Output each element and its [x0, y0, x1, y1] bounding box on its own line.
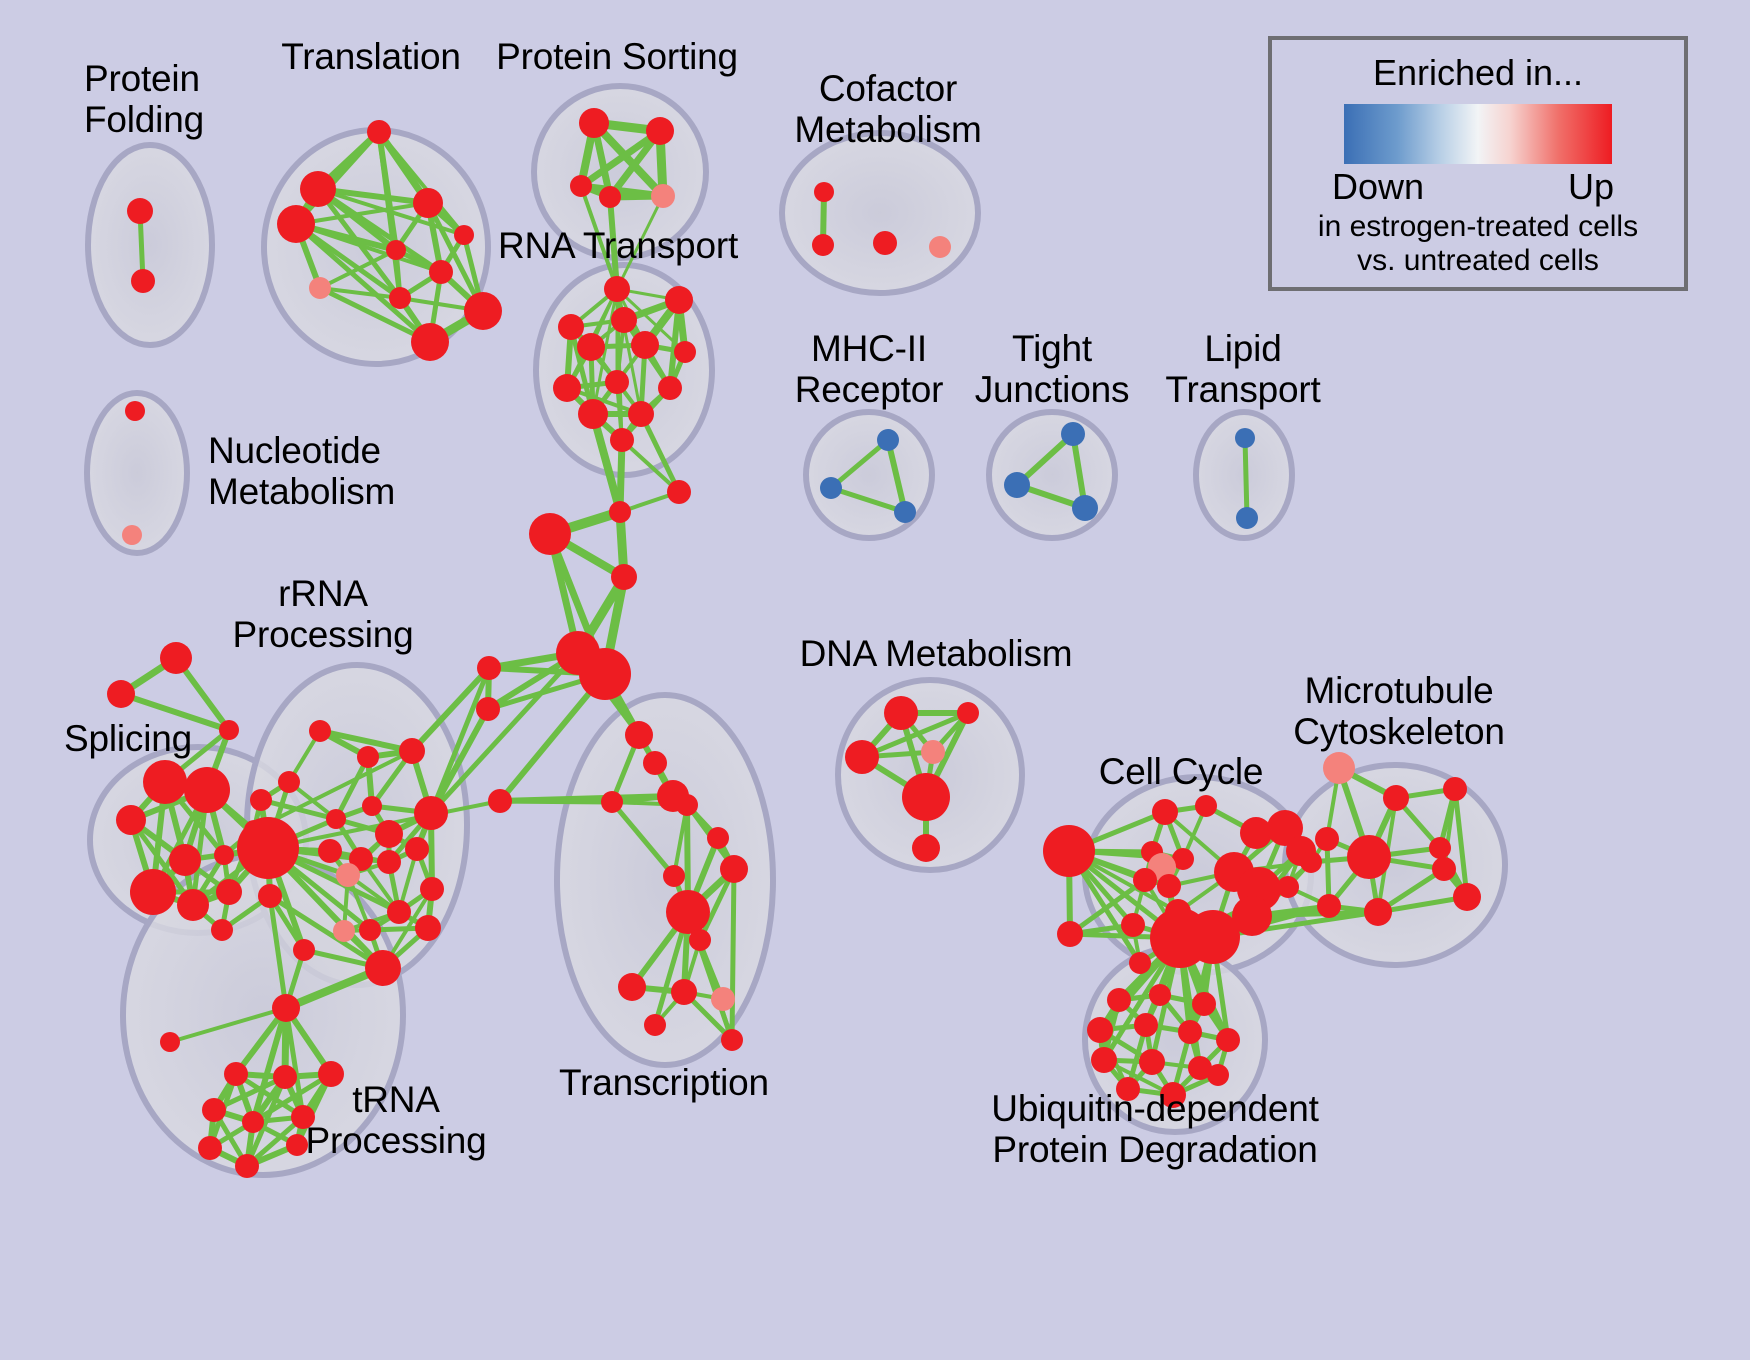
network-node[interactable]	[413, 188, 443, 218]
network-node[interactable]	[605, 370, 629, 394]
network-node[interactable]	[579, 648, 631, 700]
cluster-label-line: Cofactor	[794, 68, 981, 109]
network-node[interactable]	[1091, 1047, 1117, 1073]
legend-up-label: Up	[1568, 166, 1614, 208]
network-node[interactable]	[877, 429, 899, 451]
network-node[interactable]	[812, 234, 834, 256]
cluster-label-tight-junctions: TightJunctions	[975, 328, 1130, 411]
network-node[interactable]	[1240, 817, 1272, 849]
cluster-label-line: Metabolism	[208, 471, 395, 512]
network-node[interactable]	[1277, 876, 1299, 898]
network-node[interactable]	[1139, 1049, 1165, 1075]
network-node[interactable]	[216, 879, 242, 905]
network-node[interactable]	[1432, 857, 1456, 881]
network-node[interactable]	[845, 740, 879, 774]
network-node[interactable]	[365, 950, 401, 986]
network-node[interactable]	[1043, 825, 1095, 877]
network-node[interactable]	[488, 789, 512, 813]
network-node[interactable]	[711, 987, 735, 1011]
cluster-label-line: Junctions	[975, 369, 1130, 410]
cluster-label-line: Nucleotide	[208, 430, 395, 471]
network-node[interactable]	[1300, 851, 1322, 873]
cluster-label-line: Translation	[281, 36, 460, 77]
network-node[interactable]	[957, 702, 979, 724]
network-node[interactable]	[309, 720, 331, 742]
network-node[interactable]	[477, 656, 501, 680]
network-node[interactable]	[665, 286, 693, 314]
cluster-label-line: Protein Sorting	[496, 36, 738, 77]
network-node[interactable]	[721, 1029, 743, 1051]
legend-subtitle-line1: in estrogen-treated cells	[1272, 210, 1684, 244]
network-node[interactable]	[177, 889, 209, 921]
network-edge	[732, 869, 734, 1040]
network-node[interactable]	[1157, 874, 1181, 898]
network-node[interactable]	[674, 341, 696, 363]
cluster-label-line: tRNA	[305, 1079, 486, 1120]
network-node[interactable]	[160, 642, 192, 674]
network-node[interactable]	[1443, 777, 1467, 801]
cluster-label-protein-sorting: Protein Sorting	[496, 36, 738, 77]
network-node[interactable]	[570, 175, 592, 197]
cluster-label-line: Transport	[1165, 369, 1320, 410]
network-node[interactable]	[1134, 1013, 1158, 1037]
cluster-ellipse-protein-folding	[88, 145, 212, 345]
network-node[interactable]	[663, 865, 685, 887]
network-node[interactable]	[1235, 428, 1255, 448]
network-node[interactable]	[902, 773, 950, 821]
network-node[interactable]	[237, 817, 299, 879]
network-node[interactable]	[611, 307, 637, 333]
cluster-label-line: Splicing	[64, 718, 192, 759]
network-node[interactable]	[1192, 992, 1216, 1016]
cluster-label-line: Metabolism	[794, 109, 981, 150]
network-node[interactable]	[676, 794, 698, 816]
network-node[interactable]	[820, 477, 842, 499]
cluster-label-mhc-ii-receptor: MHC-IIReceptor	[795, 328, 944, 411]
network-node[interactable]	[377, 850, 401, 874]
network-node[interactable]	[127, 198, 153, 224]
network-node[interactable]	[336, 863, 360, 887]
network-node[interactable]	[720, 855, 748, 883]
legend-endpoint-labels: Down Up	[1328, 166, 1628, 210]
legend-panel: Enriched in... Down Up in estrogen-treat…	[1268, 36, 1688, 291]
network-node[interactable]	[420, 877, 444, 901]
network-node[interactable]	[415, 915, 441, 941]
network-node[interactable]	[1323, 752, 1355, 784]
cluster-label-line: Ubiquitin-dependent	[991, 1088, 1318, 1129]
network-node[interactable]	[399, 738, 425, 764]
network-node[interactable]	[293, 939, 315, 961]
network-node[interactable]	[411, 323, 449, 361]
network-node[interactable]	[529, 513, 571, 555]
cluster-label-transcription: Transcription	[559, 1062, 769, 1103]
network-node[interactable]	[625, 721, 653, 749]
network-node[interactable]	[814, 182, 834, 202]
network-node[interactable]	[122, 525, 142, 545]
network-node[interactable]	[219, 720, 239, 740]
network-node[interactable]	[242, 1111, 264, 1133]
network-node[interactable]	[211, 919, 233, 941]
network-node[interactable]	[651, 184, 675, 208]
network-node[interactable]	[272, 994, 300, 1022]
network-node[interactable]	[389, 287, 411, 309]
network-node[interactable]	[553, 374, 581, 402]
network-node[interactable]	[618, 973, 646, 1001]
cluster-ellipse-tight-junctions	[989, 412, 1115, 538]
network-node[interactable]	[1207, 1064, 1229, 1086]
network-node[interactable]	[1107, 988, 1131, 1012]
network-node[interactable]	[273, 1065, 297, 1089]
network-node[interactable]	[1178, 1020, 1202, 1044]
network-node[interactable]	[131, 269, 155, 293]
network-node[interactable]	[160, 1032, 180, 1052]
network-node[interactable]	[386, 240, 406, 260]
network-node[interactable]	[476, 697, 500, 721]
legend-subtitle-line2: vs. untreated cells	[1272, 244, 1684, 278]
network-node[interactable]	[429, 260, 453, 284]
network-node[interactable]	[318, 839, 342, 863]
cluster-label-rrna-processing: rRNAProcessing	[232, 573, 413, 656]
network-node[interactable]	[666, 890, 710, 934]
network-node[interactable]	[130, 869, 176, 915]
network-node[interactable]	[1129, 952, 1151, 974]
network-node[interactable]	[643, 751, 667, 775]
network-node[interactable]	[631, 331, 659, 359]
network-node[interactable]	[1087, 1017, 1113, 1043]
cluster-label-line: Processing	[305, 1120, 486, 1161]
network-node[interactable]	[921, 740, 945, 764]
network-node[interactable]	[671, 979, 697, 1005]
cluster-label-splicing: Splicing	[64, 718, 192, 759]
network-node[interactable]	[214, 845, 234, 865]
network-node[interactable]	[884, 696, 918, 730]
network-node[interactable]	[362, 796, 382, 816]
cluster-label-line: MHC-II	[795, 328, 944, 369]
network-node[interactable]	[646, 117, 674, 145]
network-node[interactable]	[707, 827, 729, 849]
cluster-label-line: Processing	[232, 614, 413, 655]
cluster-label-line: Cell Cycle	[1099, 751, 1264, 792]
cluster-label-lipid-transport: LipidTransport	[1165, 328, 1320, 411]
network-node[interactable]	[1317, 894, 1341, 918]
network-node[interactable]	[235, 1154, 259, 1178]
network-node[interactable]	[578, 399, 608, 429]
network-node[interactable]	[1004, 472, 1030, 498]
network-node[interactable]	[326, 809, 346, 829]
network-node[interactable]	[894, 501, 916, 523]
network-node[interactable]	[198, 1136, 222, 1160]
network-node[interactable]	[375, 820, 403, 848]
cluster-label-line: Cytoskeleton	[1293, 711, 1505, 752]
network-node[interactable]	[1061, 422, 1085, 446]
cluster-label-translation: Translation	[281, 36, 460, 77]
network-node[interactable]	[558, 314, 584, 340]
network-node[interactable]	[873, 231, 897, 255]
network-node[interactable]	[1152, 799, 1178, 825]
network-node[interactable]	[278, 771, 300, 793]
cluster-label-microtubule-cytoskeleton: MicrotubuleCytoskeleton	[1293, 670, 1505, 753]
cluster-label-line: Microtubule	[1293, 670, 1505, 711]
network-node[interactable]	[1072, 495, 1098, 521]
network-node[interactable]	[1057, 921, 1083, 947]
network-node[interactable]	[1453, 883, 1481, 911]
cluster-label-rna-transport: RNA Transport	[498, 225, 738, 266]
network-node[interactable]	[577, 333, 605, 361]
network-node[interactable]	[277, 205, 315, 243]
cluster-label-line: RNA Transport	[498, 225, 738, 266]
network-node[interactable]	[667, 480, 691, 504]
network-node[interactable]	[143, 760, 187, 804]
network-node[interactable]	[604, 276, 630, 302]
enrichment-network-figure: ProteinFoldingTranslationProtein Sorting…	[0, 0, 1750, 1360]
cluster-label-cofactor-metabolism: CofactorMetabolism	[794, 68, 981, 151]
cluster-label-line: Folding	[84, 99, 204, 140]
cluster-label-line: rRNA	[232, 573, 413, 614]
network-node[interactable]	[1364, 898, 1392, 926]
cluster-label-line: Receptor	[795, 369, 944, 410]
network-node[interactable]	[658, 376, 682, 400]
network-node[interactable]	[258, 884, 282, 908]
network-node[interactable]	[611, 564, 637, 590]
network-node[interactable]	[1429, 837, 1451, 859]
network-node[interactable]	[609, 501, 631, 523]
network-node[interactable]	[689, 929, 711, 951]
network-node[interactable]	[387, 900, 411, 924]
network-node[interactable]	[309, 277, 331, 299]
network-node[interactable]	[1347, 835, 1391, 879]
cluster-label-line: Protein	[84, 58, 204, 99]
network-node[interactable]	[333, 920, 355, 942]
cluster-label-line: Lipid	[1165, 328, 1320, 369]
cluster-label-line: Transcription	[559, 1062, 769, 1103]
network-node[interactable]	[610, 428, 634, 452]
network-edge	[500, 801, 612, 802]
network-node[interactable]	[644, 1014, 666, 1036]
network-node[interactable]	[169, 844, 201, 876]
network-node[interactable]	[1121, 913, 1145, 937]
legend-title: Enriched in...	[1272, 52, 1684, 94]
network-node[interactable]	[116, 805, 146, 835]
network-node[interactable]	[300, 171, 336, 207]
network-node[interactable]	[202, 1098, 226, 1122]
network-node[interactable]	[1186, 910, 1240, 964]
cluster-label-trna-processing: tRNAProcessing	[305, 1079, 486, 1162]
network-node[interactable]	[1236, 507, 1258, 529]
legend-color-gradient	[1344, 104, 1612, 164]
network-node[interactable]	[1133, 868, 1157, 892]
network-node[interactable]	[454, 225, 474, 245]
network-node[interactable]	[125, 401, 145, 421]
legend-down-label: Down	[1332, 166, 1424, 208]
network-node[interactable]	[579, 108, 609, 138]
cluster-label-ubiquitin-degradation: Ubiquitin-dependentProtein Degradation	[991, 1088, 1318, 1171]
network-node[interactable]	[224, 1062, 248, 1086]
network-node[interactable]	[1383, 785, 1409, 811]
network-node[interactable]	[357, 746, 379, 768]
network-node[interactable]	[250, 789, 272, 811]
network-node[interactable]	[601, 791, 623, 813]
network-node[interactable]	[184, 767, 230, 813]
cluster-label-cell-cycle: Cell Cycle	[1099, 751, 1264, 792]
network-node[interactable]	[1195, 795, 1217, 817]
network-node[interactable]	[359, 919, 381, 941]
cluster-label-nucleotide-metabolism: NucleotideMetabolism	[208, 430, 395, 513]
cluster-label-protein-folding: ProteinFolding	[84, 58, 204, 141]
network-node[interactable]	[1216, 1028, 1240, 1052]
network-node[interactable]	[1315, 827, 1339, 851]
network-node[interactable]	[464, 292, 502, 330]
cluster-label-dna-metabolism: DNA Metabolism	[800, 633, 1073, 674]
network-node[interactable]	[367, 120, 391, 144]
cluster-label-line: DNA Metabolism	[800, 633, 1073, 674]
network-node[interactable]	[405, 837, 429, 861]
network-node[interactable]	[414, 796, 448, 830]
network-node[interactable]	[107, 680, 135, 708]
network-node[interactable]	[1149, 984, 1171, 1006]
network-node[interactable]	[912, 834, 940, 862]
network-edge	[1245, 438, 1247, 518]
network-node[interactable]	[599, 186, 621, 208]
cluster-label-line: Protein Degradation	[991, 1129, 1318, 1170]
cluster-label-line: Tight	[975, 328, 1130, 369]
network-node[interactable]	[929, 236, 951, 258]
network-node[interactable]	[628, 401, 654, 427]
cluster-ellipse-cofactor-metabolism	[782, 133, 978, 293]
